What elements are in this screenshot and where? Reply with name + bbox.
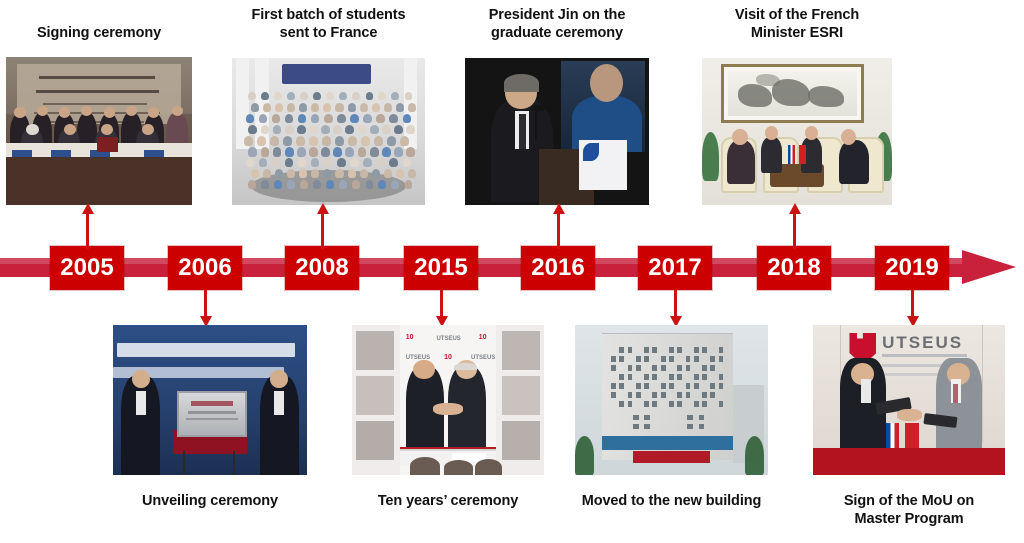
year-label: 2019 [885,254,938,282]
caption-line: Minister ESRI [702,24,892,42]
connector-2018 [793,213,796,249]
timeline-infographic: Signing ceremony First batch of students… [0,0,1024,543]
connector-2017 [674,290,677,318]
timeline-arrow-icon [962,250,1016,284]
photo-signing-ceremony[interactable] [6,57,192,205]
flag-france-icon [788,145,796,164]
photo-mou-signing[interactable]: UTSEUS [813,325,1005,475]
caption-line: Ten years’ ceremony [352,492,544,510]
photo-scene [702,58,892,205]
photo-scene [465,58,649,205]
caption-line: Visit of the French [702,6,892,24]
year-label: 2006 [178,254,231,282]
photo-french-minister-visit[interactable] [702,58,892,205]
year-label: 2017 [648,254,701,282]
caption-line: First batch of students [232,6,425,24]
caption-2018: Visit of the French Minister ESRI [702,6,892,42]
year-marker-2015[interactable]: 2015 [404,246,478,290]
connector-2019 [911,290,914,318]
connector-2008 [321,213,324,249]
year-marker-2019[interactable]: 2019 [875,246,949,290]
connector-2005 [86,213,89,249]
connector-2005-arrow-icon [82,203,94,214]
year-label: 2008 [295,254,348,282]
year-marker-2005[interactable]: 2005 [50,246,124,290]
flag-china-icon [905,423,918,449]
caption-line: sent to France [232,24,425,42]
photo-first-batch-students[interactable] [232,58,425,205]
photo-scene: 10 UTSEUS 10 UTSEUS 10 UTSEUS [352,325,544,475]
caption-2017: Moved to the new building [575,492,768,510]
year-marker-2016[interactable]: 2016 [521,246,595,290]
connector-2006 [204,290,207,318]
year-label: 2015 [414,254,467,282]
caption-line: President Jin on the [465,6,649,24]
photo-unveiling-ceremony[interactable] [113,325,307,475]
photo-scene [6,57,192,205]
caption-line: Sign of the MoU on [813,492,1005,510]
year-marker-2006[interactable]: 2006 [168,246,242,290]
year-marker-2008[interactable]: 2008 [285,246,359,290]
year-label: 2018 [767,254,820,282]
photo-scene [575,325,768,475]
connector-2016 [557,213,560,249]
caption-2019: Sign of the MoU on Master Program [813,492,1005,528]
caption-line: Signing ceremony [6,24,192,42]
year-marker-2018[interactable]: 2018 [757,246,831,290]
year-marker-2017[interactable]: 2017 [638,246,712,290]
photo-scene [113,325,307,475]
photo-ten-years-ceremony[interactable]: 10 UTSEUS 10 UTSEUS 10 UTSEUS [352,325,544,475]
photo-president-jin[interactable] [465,58,649,205]
caption-line: Moved to the new building [575,492,768,510]
caption-2008: First batch of students sent to France [232,6,425,42]
photo-new-building[interactable] [575,325,768,475]
caption-2006: Unveiling ceremony [113,492,307,510]
connector-2015 [440,290,443,318]
flag-china-icon [799,145,807,164]
connector-2008-arrow-icon [317,203,329,214]
photo-scene: UTSEUS [813,325,1005,475]
caption-line: graduate ceremony [465,24,649,42]
photo-scene [232,58,425,205]
connector-2018-arrow-icon [789,203,801,214]
year-label: 2005 [60,254,113,282]
caption-2015: Ten years’ ceremony [352,492,544,510]
caption-2016: President Jin on the graduate ceremony [465,6,649,42]
caption-line: Unveiling ceremony [113,492,307,510]
flag-france-icon [886,423,899,449]
year-label: 2016 [531,254,584,282]
caption-line: Master Program [813,510,1005,528]
utseus-wordmark: UTSEUS [882,333,963,353]
caption-2005: Signing ceremony [6,24,192,42]
connector-2016-arrow-icon [553,203,565,214]
